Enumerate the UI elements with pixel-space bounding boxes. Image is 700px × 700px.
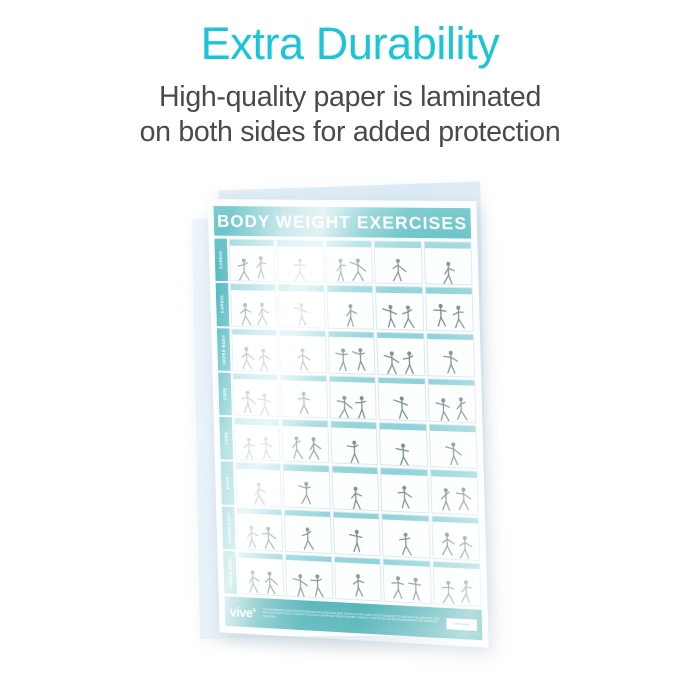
exercise-figure-icon	[231, 290, 276, 326]
exercise-cell	[236, 507, 283, 552]
category-row: CARDIO	[216, 283, 474, 331]
exercise-figure-icon	[334, 517, 380, 555]
exercise-figure-icon	[430, 430, 477, 468]
exercise-cell	[331, 466, 379, 511]
exercise-cell	[334, 556, 382, 602]
vive-logo-text: vive	[229, 604, 252, 620]
poster-content: BODY WEIGHT EXERCISES CARDIOCARDIOUPPER …	[208, 199, 489, 648]
legal-fineprint: THE INFORMATION AND ADVICE PUBLISHED OR …	[256, 607, 447, 628]
exercise-cell	[282, 419, 330, 464]
category-row: UPPER BODY	[217, 328, 475, 378]
exercise-cell	[238, 551, 285, 596]
exercise-cell	[380, 467, 429, 512]
category-row: CORE	[219, 417, 477, 469]
exercise-figure-icon	[332, 472, 378, 510]
category-tab-label: CARDIO	[220, 296, 225, 314]
exercise-figure-icon	[235, 424, 280, 461]
exercise-figure-icon	[428, 385, 475, 423]
exercise-figure-icon	[236, 468, 281, 505]
category-tab-back: BACK	[221, 461, 235, 504]
vive-logo: vive®	[229, 604, 255, 620]
exercise-cell-group	[234, 417, 478, 469]
exercise-cell	[431, 515, 480, 561]
exercise-figure-icon	[279, 291, 324, 327]
exercise-cell-group	[235, 462, 479, 515]
exercise-cell	[423, 241, 472, 285]
exercise-figure-icon	[330, 382, 376, 419]
exercise-figure-icon	[239, 558, 284, 596]
exercise-cell	[229, 239, 276, 282]
exercise-figure-icon	[230, 245, 275, 281]
exercise-figure-icon	[381, 474, 427, 512]
exercise-cell	[330, 420, 378, 465]
category-tab-label: CORE	[224, 432, 229, 445]
exercise-figure-icon	[234, 379, 279, 416]
poster-header-band: BODY WEIGHT EXERCISES	[213, 206, 471, 239]
product-feature-graphic: Extra Durability High-quality paper is l…	[0, 0, 700, 700]
exercise-cell	[333, 511, 381, 556]
exercise-cell	[376, 331, 425, 376]
exercise-figure-icon	[335, 562, 381, 600]
category-tab-label: LOWER BODY	[227, 557, 233, 589]
category-tab-label: LOWER BODY	[226, 512, 232, 543]
exercise-cell	[235, 462, 282, 507]
exercise-figure-icon	[425, 248, 472, 285]
exercise-cell	[283, 464, 331, 509]
category-tab-core: CORE	[218, 372, 232, 415]
exercise-cell	[285, 554, 333, 599]
exercise-cell	[230, 283, 277, 327]
exercise-figure-icon	[431, 476, 478, 514]
exercise-figure-icon	[283, 425, 328, 462]
exercise-cell-group	[230, 283, 474, 331]
vive-health-badge-text: vive health	[453, 621, 470, 626]
exercise-figure-icon	[326, 246, 372, 282]
exercise-cell	[426, 332, 475, 377]
exercise-cell	[280, 374, 328, 418]
exercise-figure-icon	[426, 293, 473, 330]
exercise-figure-icon	[378, 338, 424, 375]
vive-health-badge: vive health	[446, 618, 477, 631]
exercise-figure-icon	[282, 380, 327, 417]
poster-header-title: BODY WEIGHT EXERCISES	[217, 210, 468, 233]
exercise-cell	[231, 328, 278, 372]
exercise-cell	[328, 330, 376, 374]
exercise-figure-icon	[384, 565, 430, 603]
category-tab-label: CORE	[222, 387, 227, 400]
exercise-figure-icon	[380, 429, 426, 467]
exercise-cell	[326, 285, 374, 329]
exercise-figure-icon	[433, 567, 480, 605]
exercise-figure-icon	[329, 337, 375, 374]
exercise-cell	[284, 509, 332, 554]
category-tab-core: CORE	[219, 417, 233, 460]
exercise-cell	[329, 375, 377, 420]
category-row: CORE	[218, 372, 476, 423]
exercise-cell	[425, 287, 474, 332]
exercise-figure-icon	[427, 339, 474, 376]
exercise-figure-icon	[284, 470, 329, 507]
exercise-cell-group	[233, 373, 477, 424]
exercise-figure-icon	[327, 292, 373, 329]
exercise-cell	[378, 377, 427, 422]
category-tab-label: BACK	[225, 476, 230, 489]
exercise-figure-icon	[232, 334, 277, 370]
category-row: CARDIO	[214, 239, 472, 286]
exercise-cell	[375, 286, 424, 330]
exercise-figure-icon	[287, 560, 332, 598]
category-tab-label: CARDIO	[219, 251, 224, 269]
exercise-grid: CARDIOCARDIOUPPER BODYCORECOREBACKLOWER …	[209, 238, 488, 607]
category-tab-lower-body: LOWER BODY	[223, 551, 237, 594]
exercise-figure-icon	[285, 515, 330, 553]
exercise-cell	[432, 561, 481, 607]
category-tab-lower-body: LOWER BODY	[222, 506, 236, 549]
exercise-figure-icon	[278, 246, 323, 282]
exercise-figure-icon	[376, 292, 422, 329]
exercise-cell	[374, 240, 423, 284]
exercise-cell-group	[231, 328, 475, 377]
exercise-cell	[379, 422, 428, 467]
category-tab-cardio: CARDIO	[216, 283, 230, 326]
exercise-cell	[278, 284, 326, 328]
exercise-figure-icon	[379, 383, 425, 420]
exercise-figure-icon	[331, 427, 377, 464]
exercise-cell-group	[229, 239, 473, 286]
exercise-figure-icon	[383, 519, 429, 557]
exercise-cell	[234, 417, 281, 461]
exercise-figure-icon	[432, 522, 479, 560]
exercise-cell	[233, 373, 280, 417]
exercise-cell	[383, 558, 432, 604]
exercise-cell	[427, 378, 476, 423]
exercise-cell	[382, 513, 431, 559]
exercise-cell	[430, 469, 479, 515]
exercise-figure-icon	[280, 336, 325, 373]
exercise-figure-icon	[237, 513, 282, 550]
category-tab-upper-body: UPPER BODY	[217, 328, 231, 371]
exercise-cell	[428, 424, 477, 469]
exercise-cell	[277, 239, 325, 283]
poster-stack: BODY WEIGHT EXERCISES CARDIOCARDIOUPPER …	[0, 0, 700, 700]
exercise-cell	[279, 329, 327, 373]
category-tab-label: UPPER BODY	[221, 334, 227, 364]
exercise-figure-icon	[375, 247, 421, 284]
laminated-poster-front: BODY WEIGHT EXERCISES CARDIOCARDIOUPPER …	[208, 199, 489, 648]
category-tab-cardio: CARDIO	[214, 239, 228, 282]
exercise-cell	[325, 240, 373, 284]
